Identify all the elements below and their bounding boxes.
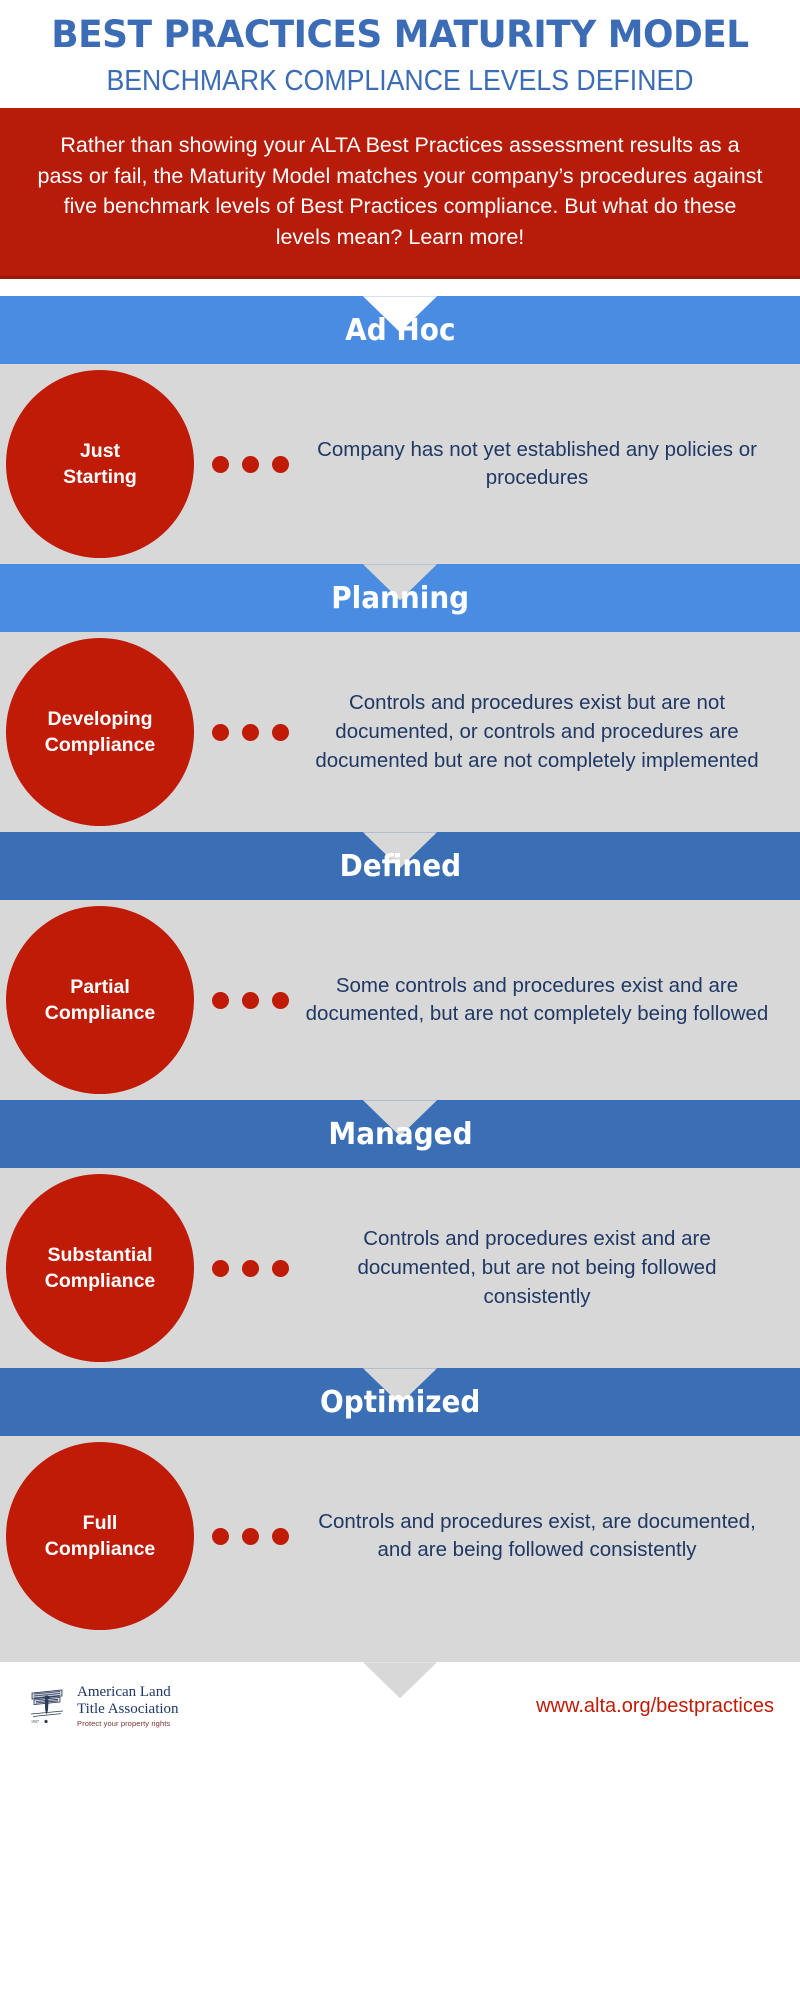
compliance-circle-line1: Substantial <box>47 1242 152 1268</box>
maturity-level-section: ManagedSubstantialComplianceControls and… <box>0 1100 800 1368</box>
level-band-label: Defined <box>339 849 461 884</box>
connector-dots <box>200 1260 300 1277</box>
alta-logo-text: American Land Title Association Protect … <box>77 1684 179 1729</box>
connector-dot-icon <box>212 1260 229 1277</box>
level-band-defined: Defined <box>0 832 800 900</box>
connector-dots <box>200 1528 300 1545</box>
level-band-label: Managed <box>328 1117 472 1152</box>
connector-dot-icon <box>242 1260 259 1277</box>
level-band-label: Optimized <box>320 1385 480 1420</box>
level-band-ad-hoc: Ad Hoc <box>0 296 800 364</box>
compliance-circle: PartialCompliance <box>6 906 194 1094</box>
connector-dot-icon <box>272 1528 289 1545</box>
footer-url-link[interactable]: www.alta.org/bestpractices <box>536 1695 774 1718</box>
level-description: Company has not yet established any poli… <box>300 436 778 493</box>
level-band-label: Planning <box>331 581 469 616</box>
page-subtitle: BENCHMARK COMPLIANCE LEVELS DEFINED <box>50 65 749 98</box>
level-content-row: PartialComplianceSome controls and proce… <box>0 900 800 1100</box>
connector-dot-icon <box>272 456 289 473</box>
maturity-level-section: PlanningDevelopingComplianceControls and… <box>0 564 800 832</box>
connector-dot-icon <box>212 456 229 473</box>
alta-eagle-logo-icon: 1907 <box>26 1681 68 1732</box>
level-description: Controls and procedures exist, are docum… <box>300 1508 778 1565</box>
connector-dot-icon <box>242 992 259 1009</box>
level-circle-wrap: JustStarting <box>0 370 200 558</box>
level-content-row: SubstantialComplianceControls and proced… <box>0 1168 800 1368</box>
page-title: BEST PRACTICES MATURITY MODEL <box>31 16 768 55</box>
compliance-circle: DevelopingCompliance <box>6 638 194 826</box>
level-content-row: DevelopingComplianceControls and procedu… <box>0 632 800 832</box>
svg-text:1907: 1907 <box>31 1719 39 1724</box>
connector-dots <box>200 724 300 741</box>
compliance-circle-line2: Compliance <box>45 1536 156 1562</box>
compliance-circle-line1: Full <box>83 1510 118 1536</box>
connector-dot-icon <box>212 1528 229 1545</box>
header: BEST PRACTICES MATURITY MODEL BENCHMARK … <box>0 0 800 108</box>
level-description: Controls and procedures exist but are no… <box>300 689 778 775</box>
alta-logo-tagline: Protect your property rights <box>77 1720 179 1728</box>
maturity-level-section: DefinedPartialComplianceSome controls an… <box>0 832 800 1100</box>
compliance-circle: JustStarting <box>6 370 194 558</box>
connector-dot-icon <box>242 1528 259 1545</box>
level-band-managed: Managed <box>0 1100 800 1168</box>
compliance-circle-line1: Partial <box>70 974 130 1000</box>
compliance-circle: SubstantialCompliance <box>6 1174 194 1362</box>
level-description: Some controls and procedures exist and a… <box>300 972 778 1029</box>
connector-dots <box>200 456 300 473</box>
alta-logo-line1: American Land <box>77 1684 179 1701</box>
footer-tail <box>0 1636 800 1662</box>
infographic-page: BEST PRACTICES MATURITY MODEL BENCHMARK … <box>0 0 800 2000</box>
connector-dot-icon <box>272 724 289 741</box>
maturity-level-section: Ad HocJustStartingCompany has not yet es… <box>0 296 800 564</box>
compliance-circle-line2: Compliance <box>45 1000 156 1026</box>
level-band-label: Ad Hoc <box>345 313 455 348</box>
compliance-circle-line2: Starting <box>63 464 137 490</box>
level-band-planning: Planning <box>0 564 800 632</box>
intro-paragraph: Rather than showing your ALTA Best Pract… <box>0 108 800 279</box>
alta-logo: 1907 American Land Title Association Pro… <box>26 1681 179 1732</box>
level-circle-wrap: DevelopingCompliance <box>0 638 200 826</box>
level-circle-wrap: SubstantialCompliance <box>0 1174 200 1362</box>
compliance-circle-line1: Just <box>80 438 120 464</box>
level-band-optimized: Optimized <box>0 1368 800 1436</box>
compliance-circle: FullCompliance <box>6 1442 194 1630</box>
level-content-row: FullComplianceControls and procedures ex… <box>0 1436 800 1636</box>
compliance-circle-line2: Compliance <box>45 1268 156 1294</box>
connector-dot-icon <box>272 992 289 1009</box>
maturity-levels-list: Ad HocJustStartingCompany has not yet es… <box>0 296 800 1662</box>
compliance-circle-line2: Compliance <box>45 732 156 758</box>
level-content-row: JustStartingCompany has not yet establis… <box>0 364 800 564</box>
alta-logo-line2: Title Association <box>77 1701 179 1718</box>
connector-dot-icon <box>212 724 229 741</box>
level-description: Controls and procedures exist and are do… <box>300 1225 778 1311</box>
level-circle-wrap: PartialCompliance <box>0 906 200 1094</box>
connector-dot-icon <box>242 724 259 741</box>
header-divider <box>0 279 800 296</box>
compliance-circle-line1: Developing <box>47 706 152 732</box>
connector-dot-icon <box>272 1260 289 1277</box>
connector-dots <box>200 992 300 1009</box>
level-circle-wrap: FullCompliance <box>0 1442 200 1630</box>
connector-dot-icon <box>212 992 229 1009</box>
connector-dot-icon <box>242 456 259 473</box>
maturity-level-section: OptimizedFullComplianceControls and proc… <box>0 1368 800 1662</box>
